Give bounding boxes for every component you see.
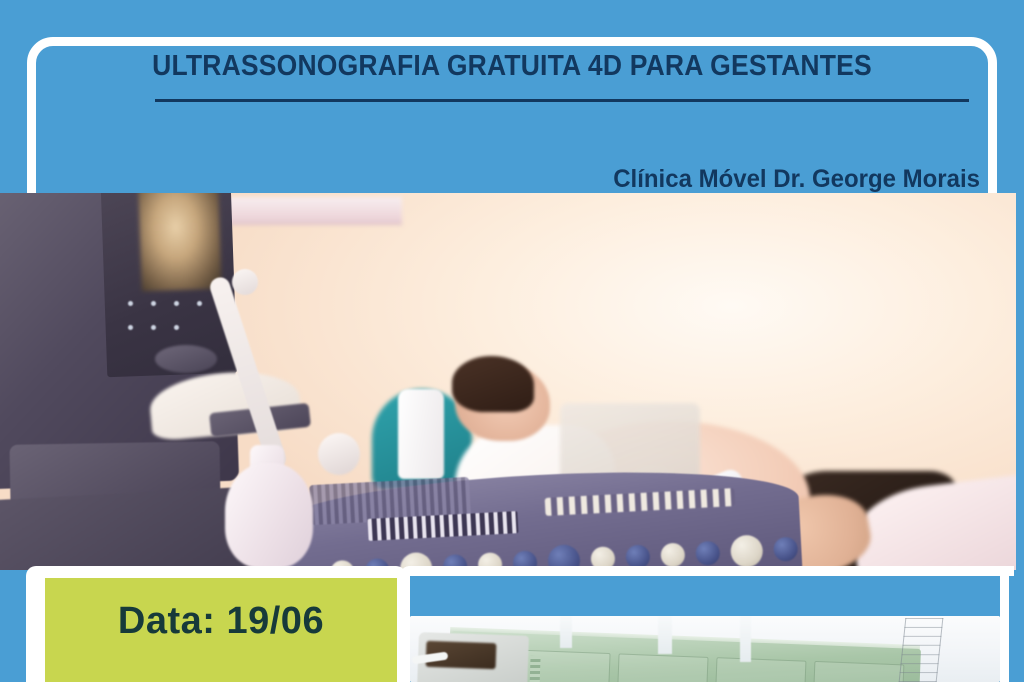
page-title: ULTRASSONOGRAFIA GRATUITA 4D PARA GESTAN…: [36, 52, 988, 82]
screen-dot: [174, 301, 179, 306]
console-knob: [547, 544, 581, 570]
fetal-scan-image: [138, 193, 222, 291]
right-white-edge: [1000, 566, 1009, 682]
console-knob: [399, 552, 433, 570]
screen-indicator-row-2: [128, 325, 179, 330]
monitor-knob: [155, 345, 217, 373]
white-bottle: [398, 389, 444, 479]
poster-canvas: ULTRASSONOGRAFIA GRATUITA 4D PARA GESTAN…: [0, 0, 1024, 682]
truck-side-panel: [813, 661, 905, 682]
mobile-clinic-truck-photo: [410, 616, 1000, 682]
console-knob: [660, 542, 685, 567]
console-knob: [443, 554, 468, 570]
screen-dot: [128, 325, 133, 330]
title-block: ULTRASSONOGRAFIA GRATUITA 4D PARA GESTAN…: [0, 52, 1024, 82]
date-badge: Data: 19/06: [45, 578, 397, 682]
background-pole: [658, 616, 672, 654]
screen-dot: [151, 325, 156, 330]
truck-side-panel: [617, 653, 709, 682]
title-underline: [155, 99, 969, 102]
date-badge-label: Data: 19/06: [118, 600, 324, 643]
truck-vent: [529, 656, 540, 682]
patient-hair: [452, 356, 534, 412]
ultrasound-exam-photo: [0, 193, 1016, 570]
background-pole: [740, 616, 751, 662]
gel-bottle: [225, 463, 313, 568]
background-pole: [560, 616, 572, 648]
truck-side-panel: [715, 657, 807, 682]
clinic-name-subtitle: Clínica Móvel Dr. George Morais: [39, 165, 980, 194]
console-knob: [590, 546, 615, 570]
wall-picture-frame: [222, 197, 402, 225]
transmission-tower: [899, 618, 944, 682]
console-knob: [730, 534, 764, 568]
screen-dot: [174, 325, 179, 330]
console-knob: [477, 552, 502, 570]
probe-holder-joint: [318, 433, 360, 475]
console-knob: [512, 550, 537, 570]
screen-dot: [197, 301, 202, 306]
screen-dot: [128, 301, 133, 306]
screen-dot: [151, 301, 156, 306]
console-knob: [695, 541, 720, 566]
console-knob: [625, 544, 650, 569]
screen-indicator-row-1: [128, 301, 202, 306]
probe-holder-tip: [232, 269, 258, 295]
